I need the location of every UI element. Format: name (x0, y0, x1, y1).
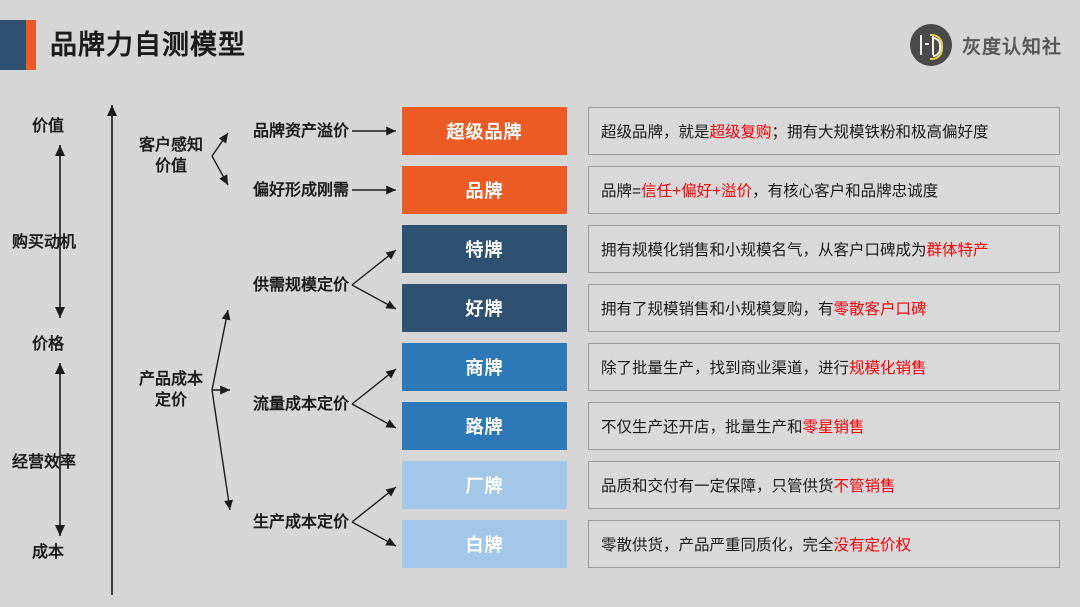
description-text: 超级品牌，就是 (601, 120, 710, 142)
description-text: 拥有规模化销售和小规模名气，从客户口碑成为 (601, 238, 927, 260)
description-box: 拥有了规模销售和小规模复购，有零散客户口碑 (588, 284, 1060, 332)
description-highlight: 零散客户口碑 (834, 297, 927, 319)
node-production-cost-pricing: 生产成本定价 (253, 512, 349, 533)
tier-box-label: 商牌 (466, 354, 504, 380)
description-highlight: 信任+偏好+溢价 (641, 179, 752, 201)
tier-box-label: 特牌 (466, 236, 504, 262)
description-text: 品质和交付有一定保障，只管供货 (601, 474, 834, 496)
description-text: 零散供货，产品严重同质化，完全 (601, 533, 834, 555)
description-box: 不仅生产还开店，批量生产和零星销售 (588, 402, 1060, 450)
description-box: 品质和交付有一定保障，只管供货不管销售 (588, 461, 1060, 509)
node-customer-perceived-value-line1: 客户感知 (139, 137, 203, 154)
description-text: 不仅生产还开店，批量生产和 (601, 415, 803, 437)
tier-box-label: 厂牌 (466, 472, 504, 498)
axis-segment-purchase-motive: 购买动机 (12, 228, 76, 252)
node-customer-perceived-value-line2: 价值 (155, 158, 187, 175)
tier-box[interactable]: 特牌 (402, 225, 567, 273)
node-brand-asset-premium: 品牌资产溢价 (253, 121, 349, 142)
axis-label-cost: 成本 (32, 538, 64, 562)
axis-label-value: 价值 (32, 112, 64, 136)
node-traffic-cost-pricing: 流量成本定价 (253, 394, 349, 415)
tier-box[interactable]: 超级品牌 (402, 107, 567, 155)
node-product-cost-pricing-line2: 定价 (155, 392, 187, 409)
tier-box[interactable]: 商牌 (402, 343, 567, 391)
tier-box[interactable]: 厂牌 (402, 461, 567, 509)
brand-name: 灰度认知社 (962, 32, 1062, 59)
tier-box[interactable]: 好牌 (402, 284, 567, 332)
description-text: 除了批量生产，找到商业渠道，进行 (601, 356, 849, 378)
description-highlight: 规模化销售 (849, 356, 927, 378)
tier-box-label: 超级品牌 (447, 118, 523, 144)
logo-mark-icon (910, 24, 952, 66)
description-highlight: 零星销售 (803, 415, 865, 437)
tier-box-label: 品牌 (466, 177, 504, 203)
axis-label-price: 价格 (32, 330, 64, 354)
description-box: 品牌=信任+偏好+溢价，有核心客户和品牌忠诚度 (588, 166, 1060, 214)
tier-box[interactable]: 白牌 (402, 520, 567, 568)
slide-canvas: 品牌力自测模型 灰度认知社 (0, 0, 1080, 607)
description-text: ；拥有大规模铁粉和极高偏好度 (772, 120, 989, 142)
header-accent-bar-dark (0, 20, 26, 70)
description-box: 零散供货，产品严重同质化，完全没有定价权 (588, 520, 1060, 568)
header-accent-bar-orange (26, 20, 36, 70)
description-box: 超级品牌，就是超级复购；拥有大规模铁粉和极高偏好度 (588, 107, 1060, 155)
tier-box-label: 路牌 (466, 413, 504, 439)
node-preference-rigid-demand: 偏好形成刚需 (253, 180, 349, 201)
description-highlight: 不管销售 (834, 474, 896, 496)
tier-box-label: 白牌 (466, 531, 504, 557)
description-highlight: 没有定价权 (834, 533, 912, 555)
tier-box-label: 好牌 (466, 295, 504, 321)
description-box: 拥有规模化销售和小规模名气，从客户口碑成为群体特产 (588, 225, 1060, 273)
node-customer-perceived-value: 客户感知 价值 (126, 135, 216, 177)
node-supply-demand-scale-pricing: 供需规模定价 (253, 275, 349, 296)
description-text: 品牌= (601, 179, 641, 201)
brand-logo: 灰度认知社 (910, 24, 1062, 66)
page-title: 品牌力自测模型 (50, 25, 246, 65)
description-text: 拥有了规模销售和小规模复购，有 (601, 297, 834, 319)
node-product-cost-pricing-line1: 产品成本 (139, 371, 203, 388)
description-text: ，有核心客户和品牌忠诚度 (752, 179, 938, 201)
axis-segment-operating-efficiency: 经营效率 (12, 448, 76, 472)
description-highlight: 群体特产 (927, 238, 989, 260)
description-box: 除了批量生产，找到商业渠道，进行规模化销售 (588, 343, 1060, 391)
tier-box[interactable]: 品牌 (402, 166, 567, 214)
tier-box[interactable]: 路牌 (402, 402, 567, 450)
node-product-cost-pricing: 产品成本 定价 (126, 369, 216, 411)
description-highlight: 超级复购 (710, 120, 772, 142)
